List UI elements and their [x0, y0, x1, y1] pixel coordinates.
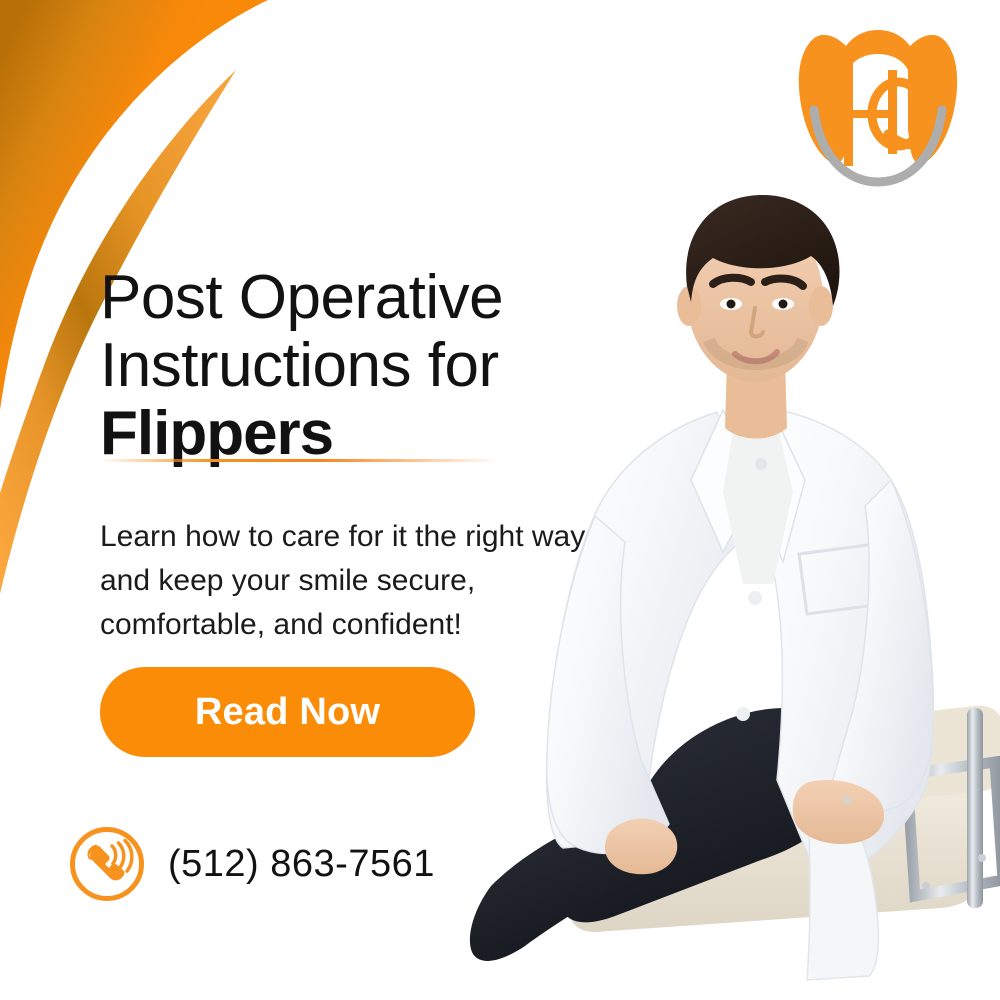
coat-button-2	[736, 707, 750, 721]
subheading-text: Learn how to care for it the right way a…	[100, 515, 600, 647]
poster-canvas: Post Operative Instructions for Flippers…	[0, 0, 1000, 1000]
page-title: Post Operative Instructions for Flippers	[100, 264, 620, 468]
phone-wave-3	[125, 841, 132, 872]
orange-gradient-divider	[100, 459, 500, 462]
coat-button-1	[748, 591, 762, 605]
chair-bolt-2	[922, 882, 930, 890]
phone-number-text[interactable]: (512) 863-7561	[168, 843, 435, 886]
headline-line-1: Post Operative	[100, 263, 503, 332]
shirt-button-1	[755, 458, 767, 470]
head	[677, 195, 840, 382]
tooth-logo-icon	[788, 18, 968, 190]
chair-bolt	[978, 854, 986, 862]
read-now-button[interactable]: Read Now	[100, 667, 475, 757]
pupil-left	[727, 300, 736, 309]
ring	[842, 795, 852, 805]
ear-right	[809, 286, 833, 326]
brand-logo	[788, 18, 968, 190]
phone-ringing-icon[interactable]	[68, 825, 146, 903]
phone-wave-1	[112, 846, 116, 864]
chair-post	[967, 708, 983, 908]
pupil-right	[779, 300, 788, 309]
phone-wave-2	[119, 843, 124, 868]
contact-phone-row[interactable]: (512) 863-7561	[68, 825, 435, 903]
headline-line-3-bold: Flippers	[100, 400, 620, 468]
phone-handset-body	[90, 846, 124, 881]
hand-left	[605, 818, 677, 874]
headline-line-2: Instructions for	[100, 331, 499, 400]
